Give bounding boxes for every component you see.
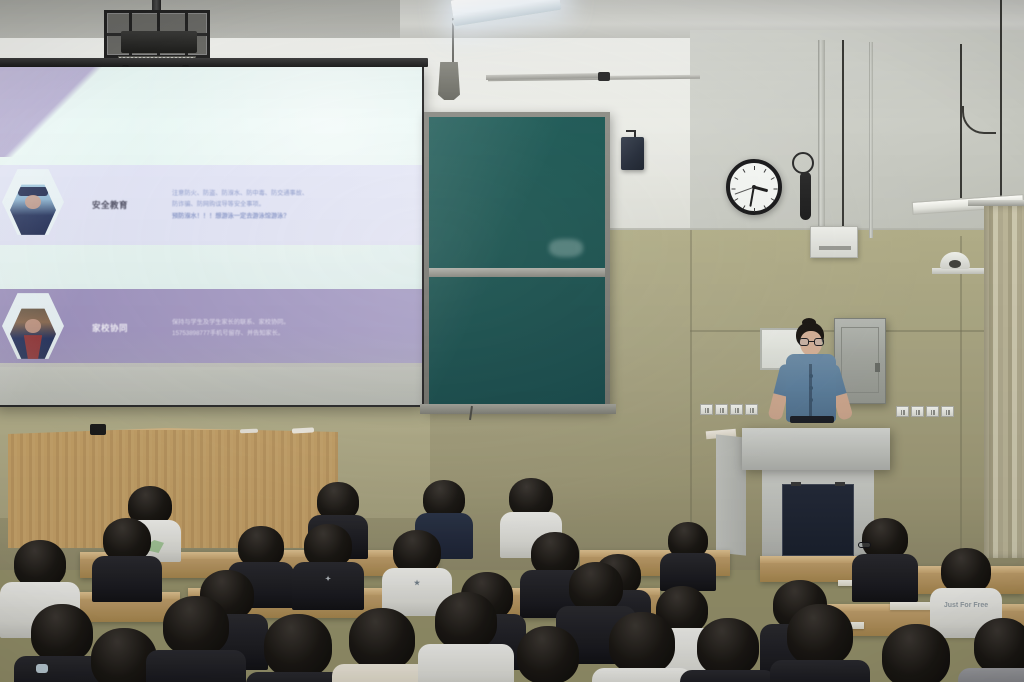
notebook-on-desk-1 — [890, 602, 934, 610]
wall-mounted-control-box[interactable] — [810, 226, 858, 258]
student-head — [787, 604, 853, 666]
teacher-button-3 — [809, 398, 813, 402]
student-head — [882, 624, 950, 682]
chalk-tray — [420, 404, 616, 414]
teacher-glasses-icon — [799, 338, 824, 346]
wall-clock — [726, 159, 782, 215]
shirt-print-graphic: ★ — [397, 580, 437, 588]
window-curtain[interactable] — [984, 206, 1024, 558]
slide-row-2-line-1: 保持与学生及学生家长的联系、家校协同。 — [172, 317, 406, 328]
wall-pipe-1 — [818, 40, 825, 236]
outlet[interactable] — [700, 404, 713, 415]
clock-tick — [754, 166, 755, 170]
slide-row-1-line-3: 预防湺水！！！想游泳一定去游泳馆游泳？ — [172, 211, 406, 222]
face-mask-icon — [36, 664, 48, 673]
presentation-slide: 安全教育 注意防火、防盗、防湺水、防中毒、防交通事故、 防诈骗、防网购误导等安全… — [0, 67, 422, 405]
classroom-photo: 安全教育 注意防火、防盗、防湺水、防中毒、防交通事故、 防诈骗、防网购误导等安全… — [0, 0, 1024, 682]
teacher-shirt-placket — [809, 364, 812, 416]
wall-seam-vertical — [690, 230, 692, 570]
clock-tick — [734, 177, 738, 180]
outlet-strip-left[interactable] — [700, 404, 758, 415]
object-on-board-ledge — [90, 424, 106, 435]
slide-corner-accent — [0, 67, 126, 157]
clock-tick — [771, 198, 775, 201]
list-item — [500, 626, 596, 682]
panel-latch — [875, 363, 880, 372]
outlet[interactable] — [745, 404, 758, 415]
student-head — [435, 592, 497, 650]
student-head — [569, 562, 623, 612]
student-head — [14, 540, 66, 588]
student-body — [770, 660, 870, 682]
chalk-piece-1 — [240, 429, 258, 434]
slide-row-1-body: 注意防火、防盗、防湺水、防中毒、防交通事故、 防诈骗、防网购误导等安全事项。 预… — [172, 188, 406, 222]
student-body — [332, 664, 432, 682]
clock-tick — [743, 205, 746, 209]
list-item — [852, 518, 918, 598]
hanging-pouch — [438, 62, 460, 100]
list-item — [958, 618, 1024, 682]
blackboard-frame — [424, 112, 610, 412]
lectern-podium[interactable] — [742, 428, 890, 470]
outlet[interactable] — [911, 406, 924, 417]
student-body — [592, 668, 692, 682]
outlet[interactable] — [730, 404, 743, 415]
shirt-print-text: ✦ — [303, 576, 353, 584]
slide-row-home-school: 家校协同 保持与学生及学生家长的联系、家校协同。 15753898777手机号留… — [0, 289, 422, 367]
podium-monitor-screen[interactable] — [782, 484, 854, 556]
slide-row-1-label: 安全教育 — [92, 199, 128, 211]
teacher-button-2 — [809, 386, 813, 390]
sliding-blackboard[interactable] — [429, 117, 605, 407]
projector-body — [121, 31, 197, 53]
student-head — [264, 614, 332, 678]
student-body — [146, 650, 246, 682]
student-body — [958, 668, 1024, 682]
clock-tick — [754, 208, 755, 212]
teacher-belt — [790, 416, 834, 423]
list-item — [92, 518, 162, 596]
list-item: ✦ — [292, 524, 364, 604]
outlet[interactable] — [941, 406, 954, 417]
student-head — [697, 618, 759, 676]
microphone-hook — [792, 152, 814, 174]
clock-tick — [764, 205, 767, 209]
teacher-presenter — [770, 322, 860, 442]
wall-cable-3 — [1000, 0, 1002, 200]
teacher-button-1 — [809, 374, 813, 378]
graduate-photo-2-icon — [2, 291, 64, 361]
hanging-microphone-icon — [800, 172, 811, 220]
student-head — [163, 596, 229, 656]
wall-pipe-2 — [869, 42, 873, 238]
wall-seam-vertical-2 — [960, 236, 962, 566]
slide-row-2-body: 保持与学生及学生家长的联系、家校协同。 15753898777手机号留存、并告知… — [172, 317, 406, 340]
student-head — [609, 612, 675, 674]
slide-row-1-line-2: 防诈骗、防网购误导等安全事项。 — [172, 199, 406, 210]
student-head — [349, 608, 415, 670]
list-item — [660, 522, 716, 584]
graduate-photo-1-icon — [2, 167, 64, 237]
projection-screen[interactable]: 安全教育 注意防火、防盗、防湺水、防中毒、防交通事故、 防诈骗、防网购误导等安全… — [0, 67, 424, 407]
clock-tick — [734, 198, 738, 201]
student-body — [680, 670, 776, 682]
shirt-print-text-2: Just For Free — [935, 602, 997, 610]
list-item — [770, 604, 870, 682]
clock-center-pin — [752, 185, 756, 189]
list-item — [592, 612, 692, 682]
wall-cable-4 — [960, 132, 962, 198]
student-body — [852, 554, 918, 602]
clock-tick — [774, 189, 778, 190]
clock-tick — [743, 169, 746, 173]
blackboard-sheen — [429, 117, 605, 407]
student-head — [974, 618, 1024, 674]
student-body — [292, 562, 364, 610]
outlet[interactable] — [926, 406, 939, 417]
slide-row-1-line-1: 注意防火、防盗、防湺水、防中毒、防交通事故、 — [172, 188, 406, 199]
screen-lower-shadow — [0, 363, 422, 405]
control-box-slot — [819, 246, 851, 250]
student-glasses-icon — [858, 542, 871, 548]
wall-cable-1 — [842, 40, 844, 238]
slide-row-safety-education: 安全教育 注意防火、防盗、防湺水、防中毒、防交通事故、 防诈骗、防网购误导等安全… — [0, 165, 422, 245]
wall-mounted-speaker-icon — [621, 137, 644, 170]
projector-cage — [104, 10, 210, 58]
slide-row-2-line-2: 15753898777手机号留存、并告知家长。 — [172, 328, 406, 339]
list-item — [864, 624, 968, 682]
screen-mount-rail — [0, 58, 428, 67]
outlet[interactable] — [896, 406, 909, 417]
slide-row-2-label: 家校协同 — [92, 322, 128, 334]
outlet[interactable] — [715, 404, 728, 415]
list-item — [146, 596, 246, 682]
student-head — [517, 626, 579, 682]
rail-end-knob — [598, 72, 610, 81]
clock-tick — [771, 177, 775, 180]
list-item — [680, 618, 776, 682]
list-item — [332, 608, 432, 682]
clock-tick — [764, 169, 767, 173]
outlet-strip-right[interactable] — [896, 406, 954, 417]
clock-tick — [732, 189, 736, 190]
